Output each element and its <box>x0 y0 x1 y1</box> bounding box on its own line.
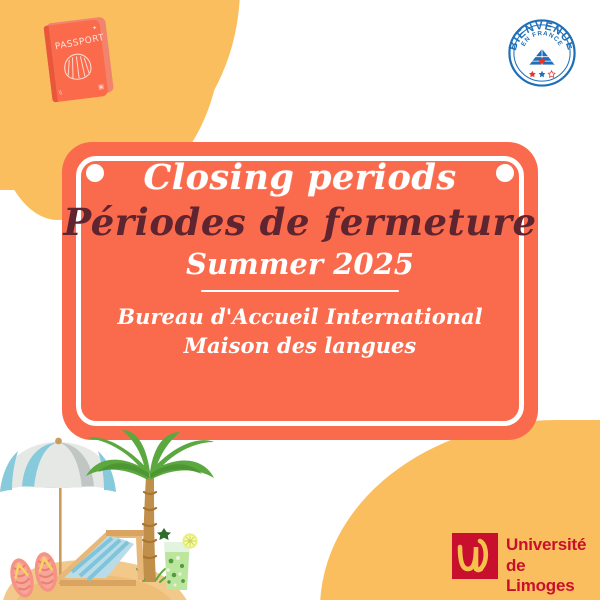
sign-text-block: Closing periods Périodes de fermeture Su… <box>62 160 538 360</box>
passport-corner-mark-bl: \\ <box>58 90 62 96</box>
passport-corner-mark-tr: ✦ <box>92 25 98 33</box>
sign-title-english: Closing periods <box>62 160 538 197</box>
badge-stars <box>529 71 555 78</box>
logo-mark <box>452 533 498 579</box>
closing-periods-sign: Closing periods Périodes de fermeture Su… <box>62 142 538 440</box>
sign-divider-rule <box>201 290 399 292</box>
sign-office-line-2: Maison des langues <box>62 332 538 360</box>
sign-office-line-1: Bureau d'Accueil International <box>62 303 538 331</box>
universite-de-limoges-logo: Université de Limoges <box>452 533 588 581</box>
beach-illustration <box>0 430 244 600</box>
sign-season: Summer 2025 <box>62 249 538 281</box>
poster-canvas: PASSPORT ✦ ▣ \\ BIENVENUE EN FRANCE <box>0 0 600 600</box>
pyramid-louvre-icon <box>529 49 556 65</box>
bienvenue-en-france-badge: BIENVENUE EN FRANCE <box>505 16 579 90</box>
passport-illustration: PASSPORT ✦ ▣ \\ <box>43 19 114 104</box>
ul-monogram-icon <box>452 533 498 579</box>
sign-title-french: Périodes de fermeture <box>62 201 538 244</box>
shell-emblem-icon <box>61 50 94 81</box>
logo-name-line-2: de Limoges <box>506 556 588 597</box>
logo-name-line-1: Université <box>506 535 588 556</box>
logo-wordmark: Université de Limoges <box>506 535 588 597</box>
sign-office-name: Bureau d'Accueil International Maison de… <box>62 303 538 360</box>
passport-corner-mark-br: ▣ <box>98 83 104 91</box>
